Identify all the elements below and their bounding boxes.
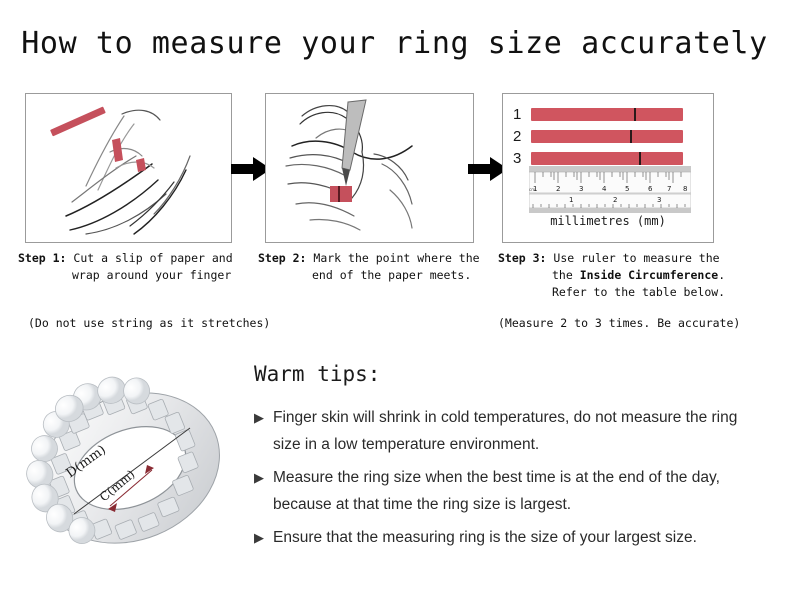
- svg-text:cm: cm: [529, 187, 535, 192]
- step-3-line2-post: .: [718, 268, 725, 282]
- ring-diagram: D(mm) C(mm): [18, 356, 258, 576]
- step-3-note: (Measure 2 to 3 times. Be accurate): [498, 316, 740, 330]
- step-1-line2: wrap around your finger: [18, 267, 258, 284]
- svg-text:3: 3: [579, 185, 583, 193]
- step-1-line1: Cut a slip of paper and: [73, 251, 232, 265]
- triangle-bullet-icon: ▶: [254, 404, 264, 431]
- page-title: How to measure your ring size accurately: [0, 26, 789, 61]
- warm-tips-heading: Warm tips:: [254, 362, 766, 386]
- strip-mark: [639, 152, 641, 165]
- step-3-line2-pre: the: [552, 268, 580, 282]
- measured-strip-row: 3: [513, 150, 683, 167]
- step-2-label: Step 2:: [258, 251, 306, 265]
- triangle-bullet-icon: ▶: [254, 464, 264, 491]
- step-3-illustration-panel: 1 2 3: [502, 93, 714, 243]
- tip-text: Ensure that the measuring ring is the si…: [273, 524, 766, 551]
- paper-strip: [531, 108, 683, 121]
- step-3-line3: Refer to the table below.: [498, 284, 748, 301]
- step-1-illustration-panel: [25, 93, 232, 243]
- step-3-line1: Use ruler to measure the: [553, 251, 719, 265]
- step-3-caption: Step 3: Use ruler to measure the the Ins…: [498, 250, 748, 301]
- svg-text:6: 6: [648, 185, 653, 193]
- step-1-caption: Step 1: Cut a slip of paper and wrap aro…: [18, 250, 258, 284]
- measured-strip-row: 1: [513, 106, 683, 123]
- strip-mark: [634, 108, 636, 121]
- hand-with-paper-slip-drawing: [26, 94, 231, 242]
- tip-text: Measure the ring size when the best time…: [273, 464, 766, 518]
- inside-circumference-emphasis: Inside Circumference: [580, 268, 718, 282]
- svg-text:5: 5: [625, 185, 629, 193]
- svg-text:7: 7: [667, 185, 671, 193]
- paper-strip: [531, 130, 683, 143]
- ruler-unit-label: millimetres (mm): [503, 214, 713, 228]
- step-3-label: Step 3:: [498, 251, 546, 265]
- svg-text:1: 1: [569, 196, 573, 204]
- measured-strip-row: 2: [513, 128, 683, 145]
- svg-text:2: 2: [613, 196, 617, 204]
- svg-text:2: 2: [556, 185, 560, 193]
- svg-text:3: 3: [657, 196, 661, 204]
- ring-size-guide: How to measure your ring size accurately: [0, 0, 789, 606]
- tip-item: ▶ Measure the ring size when the best ti…: [254, 464, 766, 518]
- step-2-illustration-panel: [265, 93, 474, 243]
- strip-number: 1: [513, 106, 531, 123]
- step-1-label: Step 1:: [18, 251, 66, 265]
- svg-text:4: 4: [602, 185, 607, 193]
- strip-mark: [630, 130, 632, 143]
- step-2-caption: Step 2: Mark the point where the end of …: [258, 250, 498, 284]
- paper-strip: [531, 152, 683, 165]
- triangle-bullet-icon: ▶: [254, 524, 264, 551]
- tip-text: Finger skin will shrink in cold temperat…: [273, 404, 766, 458]
- step-1-note: (Do not use string as it stretches): [28, 316, 270, 330]
- step-2-line2: end of the paper meets.: [258, 267, 498, 284]
- warm-tips-section: Warm tips: ▶ Finger skin will shrink in …: [254, 362, 766, 557]
- tip-item: ▶ Ensure that the measuring ring is the …: [254, 524, 766, 551]
- svg-text:8: 8: [683, 185, 687, 193]
- tip-item: ▶ Finger skin will shrink in cold temper…: [254, 404, 766, 458]
- strip-number: 2: [513, 128, 531, 145]
- strip-number: 3: [513, 150, 531, 167]
- hand-marking-paper-drawing: [266, 94, 473, 242]
- paper-slip-on-finger: [330, 186, 352, 202]
- step-2-line1: Mark the point where the: [313, 251, 479, 265]
- ruler-graphic: 123 456 78 cm 123: [529, 166, 691, 214]
